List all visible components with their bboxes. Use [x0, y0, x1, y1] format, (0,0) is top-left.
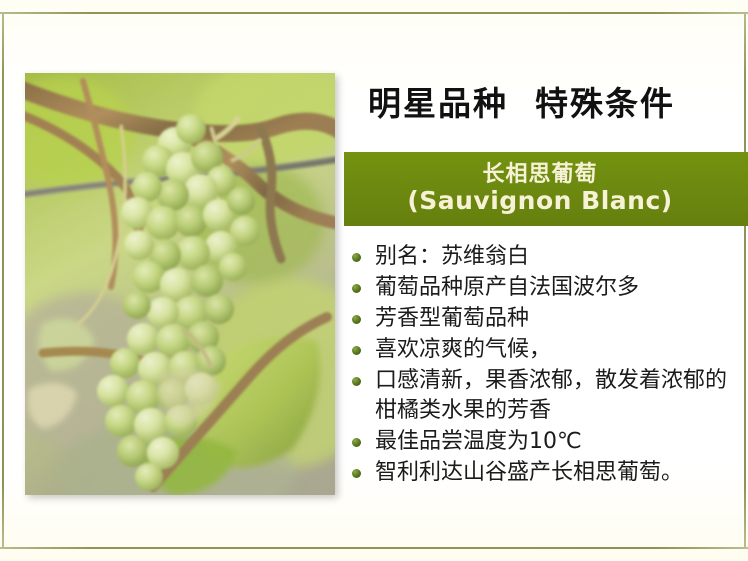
bullet-dot-icon: [352, 377, 361, 386]
list-item-label: 智利利达山谷盛产长相思葡萄。: [375, 458, 744, 488]
list-item: 最佳品尝温度为10℃: [352, 427, 744, 457]
list-item-label: 口感清新，果香浓郁，散发着浓郁的柑橘类水果的芳香: [375, 366, 744, 426]
variety-name-english: (Sauvignon Blanc): [407, 187, 672, 215]
bullet-dot-icon: [352, 284, 361, 293]
frame-border-left: [2, 12, 4, 549]
grape-cluster-photo-icon: [25, 73, 335, 495]
list-item: 喜欢凉爽的气候，: [352, 335, 744, 365]
list-item-label: 芳香型葡萄品种: [375, 304, 744, 334]
bullet-dot-icon: [352, 469, 361, 478]
bullet-dot-icon: [352, 346, 361, 355]
variety-name-banner: 长相思葡萄 (Sauvignon Blanc): [344, 152, 748, 226]
list-item: 葡萄品种原产自法国波尔多: [352, 273, 744, 303]
list-item: 别名：苏维翁白: [352, 242, 744, 272]
list-item: 口感清新，果香浓郁，散发着浓郁的柑橘类水果的芳香: [352, 366, 744, 426]
list-item-label: 别名：苏维翁白: [375, 242, 744, 272]
list-item: 智利利达山谷盛产长相思葡萄。: [352, 458, 744, 488]
list-item: 芳香型葡萄品种: [352, 304, 744, 334]
frame-border-top: [0, 12, 748, 14]
list-item-label: 最佳品尝温度为10℃: [375, 427, 744, 457]
frame-border-bottom: [0, 547, 748, 549]
page-title: 明星品种 特殊条件: [368, 70, 728, 132]
variety-name-chinese: 长相思葡萄: [482, 163, 597, 187]
slide-canvas: 明星品种 特殊条件 长相思葡萄 (Sauvignon Blanc) 别名：苏维翁…: [0, 0, 748, 561]
bullet-dot-icon: [352, 438, 361, 447]
list-item-label: 喜欢凉爽的气候，: [375, 335, 744, 365]
variety-facts-list: 别名：苏维翁白 葡萄品种原产自法国波尔多 芳香型葡萄品种 喜欢凉爽的气候， 口感…: [352, 242, 744, 489]
frame-border-right: [744, 12, 746, 549]
list-item-label: 葡萄品种原产自法国波尔多: [375, 273, 744, 303]
grape-photo: [25, 73, 335, 495]
bullet-dot-icon: [352, 253, 361, 262]
bullet-dot-icon: [352, 315, 361, 324]
